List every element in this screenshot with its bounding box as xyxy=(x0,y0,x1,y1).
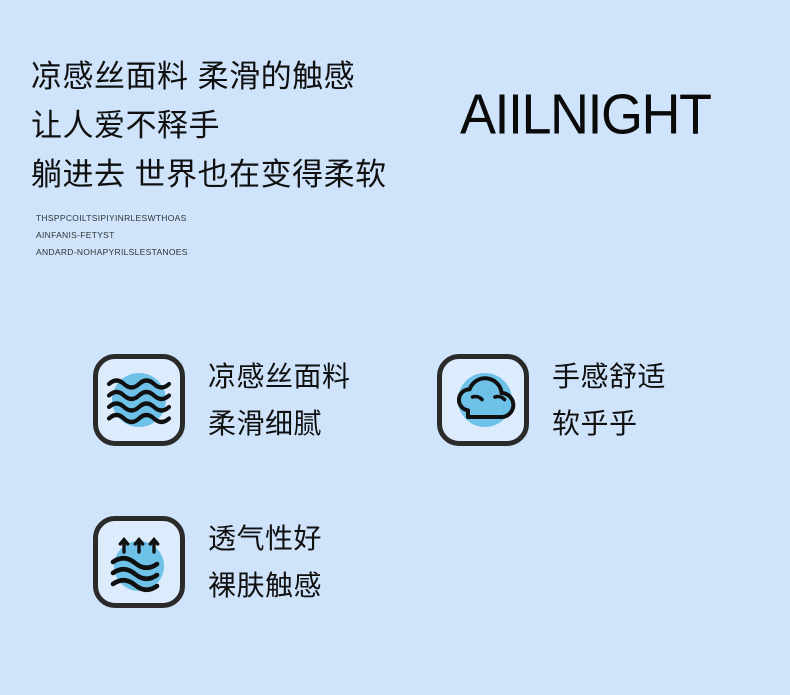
caption-line-1: THSPPCOILTSIPIYINRLESWTHOAS xyxy=(36,210,188,227)
feature-line-1: 透气性好 xyxy=(208,515,322,562)
feature-item-cooling-fabric: 凉感丝面料 柔滑细腻 xyxy=(93,353,351,447)
feature-line-2: 软乎乎 xyxy=(552,400,666,447)
feature-text-soft-touch: 手感舒适 软乎乎 xyxy=(552,353,666,447)
caption-line-3: ANDARD-NOHAPYRILSLESTANOES xyxy=(36,244,188,261)
breathable-arrows-waves-icon xyxy=(93,516,185,608)
feature-text-breathable: 透气性好 裸肤触感 xyxy=(208,515,322,609)
caption-block: THSPPCOILTSIPIYINRLESWTHOAS AINFANIS-FET… xyxy=(36,210,188,261)
feature-item-soft-touch: 手感舒适 软乎乎 xyxy=(437,353,666,447)
cloud-icon xyxy=(437,354,529,446)
water-waves-icon xyxy=(93,354,185,446)
feature-line-1: 手感舒适 xyxy=(552,353,666,400)
feature-line-1: 凉感丝面料 xyxy=(208,353,351,400)
brand-logo: AIILNIGHT xyxy=(460,85,711,144)
feature-line-2: 裸肤触感 xyxy=(208,562,322,609)
feature-text-cooling-fabric: 凉感丝面料 柔滑细腻 xyxy=(208,353,351,447)
feature-line-2: 柔滑细腻 xyxy=(208,400,351,447)
headline-block: 凉感丝面料 柔滑的触感 让人爱不释手 躺进去 世界也在变得柔软 xyxy=(31,52,451,199)
headline-line-2: 让人爱不释手 xyxy=(31,101,451,150)
feature-item-breathable: 透气性好 裸肤触感 xyxy=(93,515,322,609)
caption-line-2: AINFANIS-FETYST xyxy=(36,227,188,244)
headline-line-1: 凉感丝面料 柔滑的触感 xyxy=(31,52,451,101)
promo-banner: 凉感丝面料 柔滑的触感 让人爱不释手 躺进去 世界也在变得柔软 THSPPCOI… xyxy=(0,0,790,695)
headline-line-3: 躺进去 世界也在变得柔软 xyxy=(31,150,451,199)
